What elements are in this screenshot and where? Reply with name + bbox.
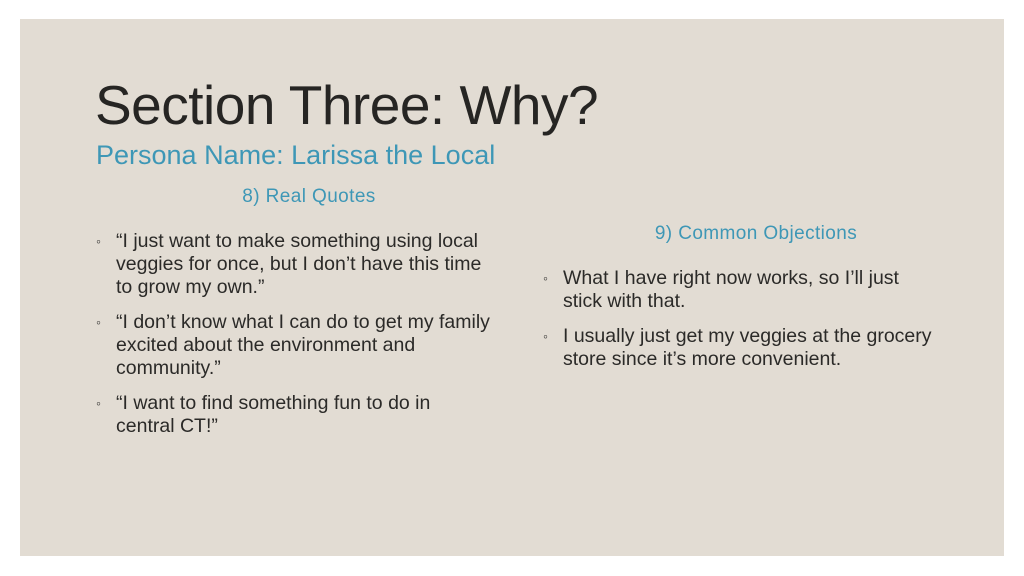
- list-item-text: What I have right now works, so I’ll jus…: [563, 267, 940, 313]
- list-item-text: “I want to find something fun to do in c…: [116, 392, 491, 438]
- bullet-circle-icon: ◦: [543, 325, 548, 348]
- bullet-circle-icon: ◦: [96, 392, 101, 415]
- list-item-text: I usually just get my veggies at the gro…: [563, 325, 940, 371]
- bullet-circle-icon: ◦: [96, 311, 101, 334]
- real-quotes-list: ◦ “I just want to make something using l…: [91, 230, 491, 438]
- list-item: ◦ “I want to find something fun to do in…: [91, 392, 491, 438]
- bullet-circle-icon: ◦: [543, 267, 548, 290]
- slide-subtitle: Persona Name: Larissa the Local: [96, 139, 495, 171]
- slide-canvas: Section Three: Why? Persona Name: Lariss…: [20, 19, 1004, 556]
- list-item: ◦ “I don’t know what I can do to get my …: [91, 311, 491, 380]
- page-title: Section Three: Why?: [95, 75, 598, 135]
- list-item-text: “I just want to make something using loc…: [116, 230, 491, 299]
- list-item: ◦ “I just want to make something using l…: [91, 230, 491, 299]
- list-item: ◦ I usually just get my veggies at the g…: [538, 325, 940, 371]
- common-objections-list: ◦ What I have right now works, so I’ll j…: [538, 267, 940, 371]
- list-item-text: “I don’t know what I can do to get my fa…: [116, 311, 491, 380]
- bullet-circle-icon: ◦: [96, 230, 101, 253]
- column-heading-common-objections: 9) Common Objections: [622, 222, 890, 246]
- list-item: ◦ What I have right now works, so I’ll j…: [538, 267, 940, 313]
- column-heading-real-quotes: 8) Real Quotes: [218, 185, 400, 209]
